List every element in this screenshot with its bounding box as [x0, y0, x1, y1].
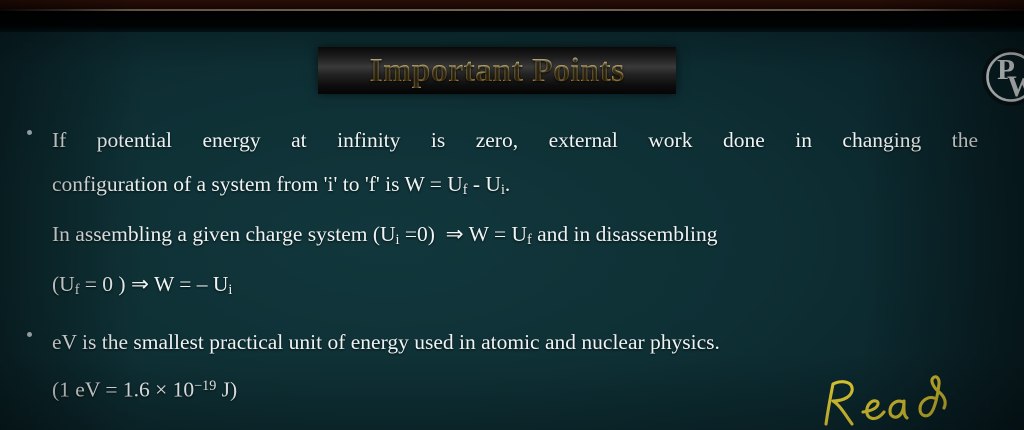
bullet-item-2: eV is the smallest practical unit of ene… — [0, 320, 1024, 364]
ev-formula-pre: (1 eV = 1.6 × 10 — [52, 378, 194, 402]
pw-logo-icon: P W — [980, 46, 1024, 108]
implies-arrow-1: ⇒ — [446, 222, 464, 247]
bullet-1-line-1: If potential energy at infinity is zero,… — [52, 118, 978, 162]
assembling-mid: =0) — [399, 222, 434, 246]
assembling-end: and in disassembling — [532, 222, 718, 246]
disassembling-pre: (U — [52, 272, 75, 296]
title-banner: Important Points — [318, 47, 676, 94]
bullet-1-line-3: In assembling a given charge system (Ui … — [0, 212, 1024, 262]
subscript-i-3: i — [228, 282, 232, 298]
bullet-1-line-2: configuration of a system from 'i' to 'f… — [52, 162, 978, 212]
disassembling-mid: = 0 ) — [79, 272, 125, 296]
bullet-dot-icon — [27, 332, 32, 337]
top-maroon-strip — [0, 0, 1024, 9]
exponent-minus-19: −19 — [194, 378, 216, 394]
assembling-text: In assembling a given charge system (U — [52, 222, 396, 246]
implies-arrow-2: ⇒ — [131, 272, 149, 297]
ev-formula-end: J) — [216, 378, 237, 402]
assembling-mid2: W = U — [469, 222, 527, 246]
page-title: Important Points — [369, 52, 624, 90]
bullet-dot-icon — [27, 130, 32, 135]
bullet-2-line-1: eV is the smallest practical unit of ene… — [52, 320, 978, 364]
bullet-item-1: If potential energy at infinity is zero,… — [0, 118, 1024, 212]
handwriting-icon — [808, 372, 958, 430]
disassembling-mid2: W = – U — [154, 272, 228, 296]
bullet-1-line-2-text: configuration of a system from 'i' to 'f… — [52, 172, 463, 196]
top-black-band — [0, 11, 1024, 32]
bullet-1-line-2-mid: - U — [468, 172, 501, 196]
bullet-1-line-2-end: . — [505, 172, 510, 196]
handwritten-read-annotation — [808, 372, 958, 430]
content-body: If potential energy at infinity is zero,… — [0, 118, 1024, 412]
slide-screen: Important Points P W If potential energy… — [0, 0, 1024, 430]
pw-logo: P W — [980, 46, 1024, 108]
svg-text:W: W — [1007, 70, 1024, 103]
bullet-1-line-4: (Uf = 0 ) ⇒ W = – Ui — [0, 262, 1024, 312]
